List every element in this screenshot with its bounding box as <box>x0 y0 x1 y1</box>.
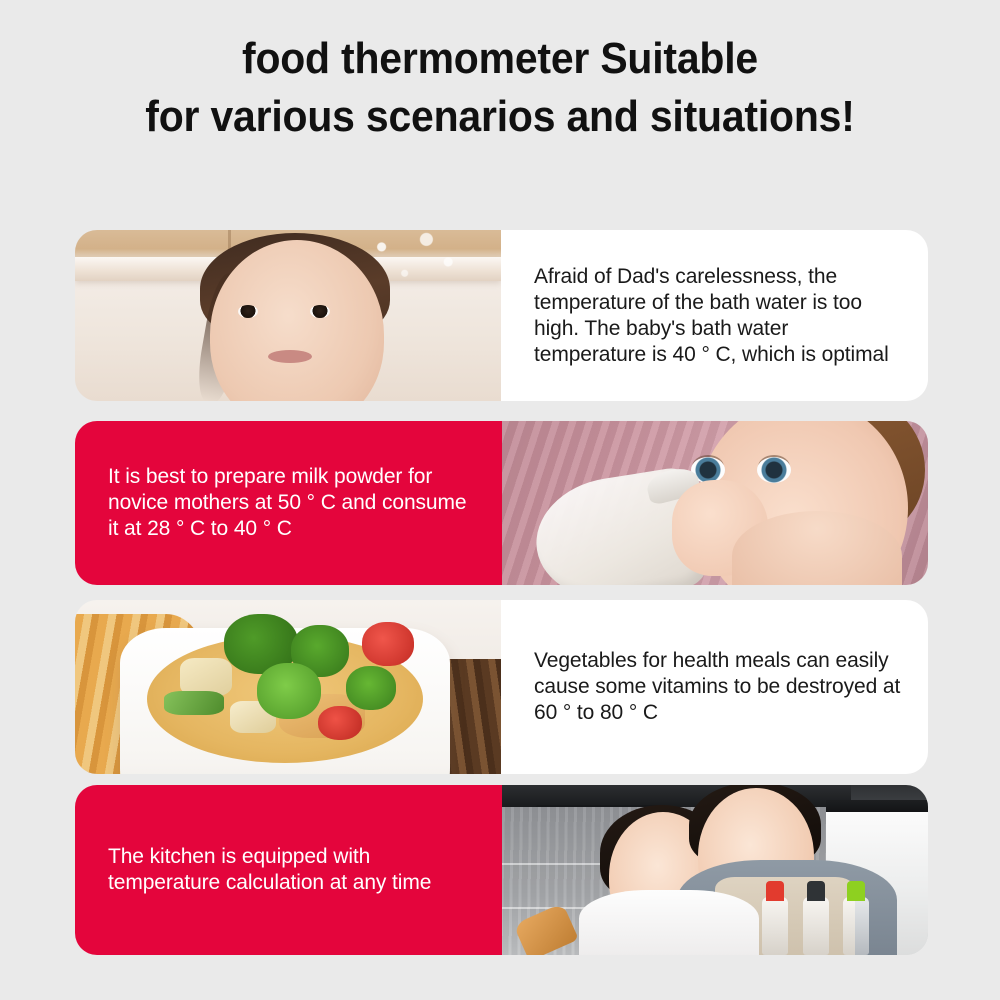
card-description: It is best to prepare milk powder for no… <box>108 464 480 542</box>
card-description: Afraid of Dad's carelessness, the temper… <box>534 264 906 368</box>
page-title: food thermometer Suitable for various sc… <box>0 30 1000 146</box>
baby-in-bathtub-photo <box>75 230 501 401</box>
baby-drinking-bottle-photo <box>502 421 928 585</box>
feature-card-milk: It is best to prepare milk powder for no… <box>75 421 928 585</box>
card-text-pane: Afraid of Dad's carelessness, the temper… <box>501 230 928 401</box>
infographic-page: food thermometer Suitable for various sc… <box>0 0 1000 1000</box>
card-text-pane: It is best to prepare milk powder for no… <box>75 421 502 585</box>
page-title-line-2: for various scenarios and situations! <box>35 88 965 146</box>
feature-card-soup: Vegetables for health meals can easily c… <box>75 600 928 774</box>
page-title-line-1: food thermometer Suitable <box>35 30 965 88</box>
card-text-pane: The kitchen is equipped with temperature… <box>75 785 502 955</box>
couple-cooking-in-kitchen-photo <box>502 785 928 955</box>
vegetable-soup-bowl-photo <box>75 600 501 774</box>
card-description: Vegetables for health meals can easily c… <box>534 648 906 726</box>
feature-card-kitchen: The kitchen is equipped with temperature… <box>75 785 928 955</box>
feature-card-bath: Afraid of Dad's carelessness, the temper… <box>75 230 928 401</box>
card-text-pane: Vegetables for health meals can easily c… <box>501 600 928 774</box>
card-description: The kitchen is equipped with temperature… <box>108 844 480 896</box>
